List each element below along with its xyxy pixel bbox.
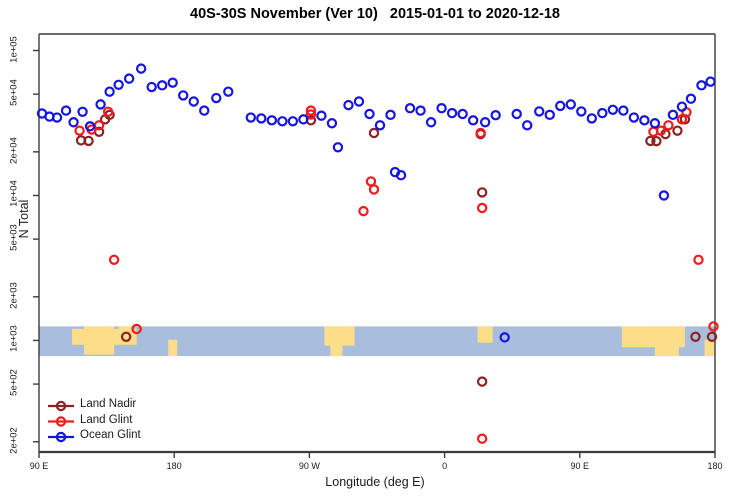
y-tick-label: 2e+03 (9, 278, 20, 312)
data-point (481, 118, 489, 126)
data-point (148, 83, 156, 91)
data-point (257, 114, 265, 122)
data-point (598, 109, 606, 117)
data-point (179, 91, 187, 99)
data-point (448, 109, 456, 117)
data-point (664, 121, 672, 129)
data-point (687, 95, 695, 103)
data-point (78, 108, 86, 116)
y-tick-label: 2e+02 (9, 423, 20, 457)
data-point (359, 207, 367, 215)
y-tick-label: 1e+03 (9, 322, 20, 356)
data-point (212, 94, 220, 102)
data-point (609, 106, 617, 114)
data-point (513, 110, 521, 118)
data-point (370, 185, 378, 193)
data-point (546, 111, 554, 119)
data-point (115, 81, 123, 89)
data-point (96, 100, 104, 108)
data-point (697, 81, 705, 89)
data-point (278, 117, 286, 125)
plot-axes (33, 34, 715, 458)
data-point (317, 112, 325, 120)
data-point (640, 116, 648, 124)
data-point (370, 129, 378, 137)
y-tick-label: 5e+03 (9, 221, 20, 255)
data-point (200, 107, 208, 115)
x-tick-label: 180 (149, 461, 199, 471)
data-point (660, 191, 668, 199)
data-point (268, 116, 276, 124)
data-point (406, 104, 414, 112)
chart-legend (48, 402, 74, 441)
data-point (588, 114, 596, 122)
data-point (492, 111, 500, 119)
data-point (416, 107, 424, 115)
data-point (556, 102, 564, 110)
data-point (478, 188, 486, 196)
data-point (247, 113, 255, 121)
data-point (669, 111, 677, 119)
y-tick-label: 1e+05 (9, 32, 20, 66)
data-point (577, 107, 585, 115)
x-tick-label: 90 E (555, 461, 605, 471)
data-point (478, 378, 486, 386)
data-point (376, 121, 384, 129)
y-tick-label: 5e+02 (9, 366, 20, 400)
data-point (158, 81, 166, 89)
data-points (38, 65, 718, 443)
legend-item-label: Land Nadir (80, 398, 136, 410)
data-point (355, 97, 363, 105)
data-point (437, 104, 445, 112)
data-point (459, 110, 467, 118)
data-point (125, 75, 133, 83)
x-tick-label: 90 W (284, 461, 334, 471)
legend-item-label: Land Glint (80, 414, 132, 426)
data-point (630, 113, 638, 121)
data-point (75, 127, 83, 135)
data-point (478, 435, 486, 443)
data-point (535, 107, 543, 115)
data-point (427, 118, 435, 126)
data-point (69, 118, 77, 126)
chart-figure: 40S-30S November (Ver 10) 2015-01-01 to … (0, 0, 750, 500)
data-point (328, 119, 336, 127)
data-point (224, 88, 232, 96)
data-point (694, 256, 702, 264)
data-point (289, 117, 297, 125)
data-point (169, 79, 177, 87)
legend-item-label: Ocean Glint (80, 429, 141, 441)
data-point (469, 116, 477, 124)
data-point (106, 88, 114, 96)
x-tick-label: 90 E (14, 461, 64, 471)
data-point (365, 110, 373, 118)
data-point (567, 100, 575, 108)
data-point (673, 127, 681, 135)
data-point (190, 97, 198, 105)
data-point (62, 107, 70, 115)
y-tick-label: 1e+04 (9, 177, 20, 211)
data-point (619, 107, 627, 115)
data-point (110, 256, 118, 264)
x-tick-label: 180 (690, 461, 740, 471)
data-point (523, 121, 531, 129)
data-point (478, 204, 486, 212)
data-point (137, 65, 145, 73)
data-point (651, 119, 659, 127)
x-tick-label: 0 (420, 461, 470, 471)
data-point (678, 103, 686, 111)
data-point (386, 111, 394, 119)
y-tick-label: 2e+04 (9, 133, 20, 167)
data-point (706, 78, 714, 86)
data-point (334, 143, 342, 151)
y-tick-label: 5e+04 (9, 76, 20, 110)
data-point (344, 101, 352, 109)
